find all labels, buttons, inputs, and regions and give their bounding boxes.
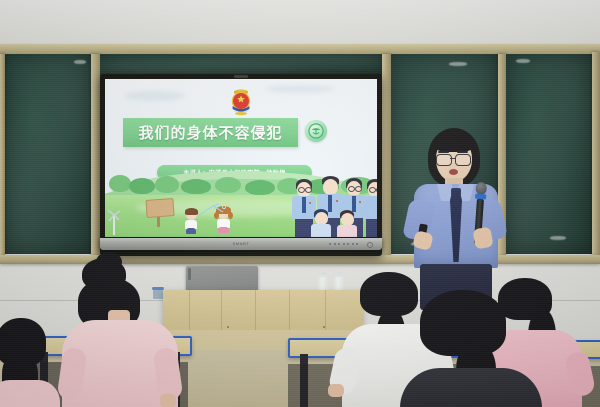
chalkboard-panel-far-right	[506, 54, 592, 254]
classroom-wall-upper	[0, 0, 600, 48]
slide-tree	[181, 179, 211, 194]
slide-tree	[109, 175, 131, 192]
slide-tree	[245, 180, 275, 195]
slide-title: 我们的身体不容侵犯	[138, 122, 282, 143]
student-foreground-dark	[398, 290, 548, 407]
presenter-eyebrow	[438, 151, 449, 153]
slide-officer	[362, 179, 377, 237]
slide-tree	[129, 178, 155, 194]
student-front-left	[60, 252, 190, 407]
panel-indicator-lights	[329, 243, 358, 245]
slide-seated-child	[336, 210, 358, 237]
eyeglasses-bridge	[450, 158, 455, 159]
slide-bubble-wand	[197, 203, 227, 219]
panel-control-bar[interactable]: SMART	[100, 238, 382, 250]
panel-brand-label: SMART	[233, 241, 250, 246]
slide-tree	[215, 177, 241, 193]
interactive-flat-panel[interactable]: 我们的身体不容侵犯 主讲人：安溪县人民检察院 钟秋梅	[100, 74, 382, 256]
slide-signboard	[145, 198, 174, 218]
chalkboard-panel-left	[4, 54, 92, 254]
presenter-fringe	[432, 133, 476, 152]
chalkboard-frame-edge	[0, 54, 5, 256]
eyeglasses-icon	[436, 154, 452, 166]
chalkboard-frame-divider	[382, 54, 391, 256]
chalkboard-frame-divider	[91, 54, 100, 256]
slide-cloud	[265, 85, 335, 93]
slide-seated-child	[310, 209, 332, 237]
chalkboard-frame-edge	[592, 52, 600, 258]
slide-cloud	[125, 91, 185, 101]
presenter-mouth	[449, 169, 458, 175]
classroom-photo: 我们的身体不容侵犯 主讲人：安溪县人民检察院 钟秋梅	[0, 0, 600, 407]
chalkboard-top-rail	[0, 44, 600, 54]
slide-tree	[155, 176, 179, 193]
presenter-hand-right	[472, 227, 493, 250]
slide-title-band: 我们的身体不容侵犯	[123, 118, 298, 147]
student-edge-left	[0, 318, 68, 407]
presenter-eyebrow	[457, 151, 468, 153]
green-circular-logo	[305, 120, 327, 142]
panel-screen[interactable]: 我们的身体不容侵犯 主讲人：安溪县人民检察院 钟秋梅	[105, 79, 377, 237]
procuratorate-emblem	[228, 87, 254, 116]
chalkboard-panel-center-top	[100, 54, 383, 76]
eyeglasses-icon	[455, 154, 471, 166]
panel-camera-icon	[234, 75, 248, 78]
power-icon[interactable]	[367, 242, 373, 248]
